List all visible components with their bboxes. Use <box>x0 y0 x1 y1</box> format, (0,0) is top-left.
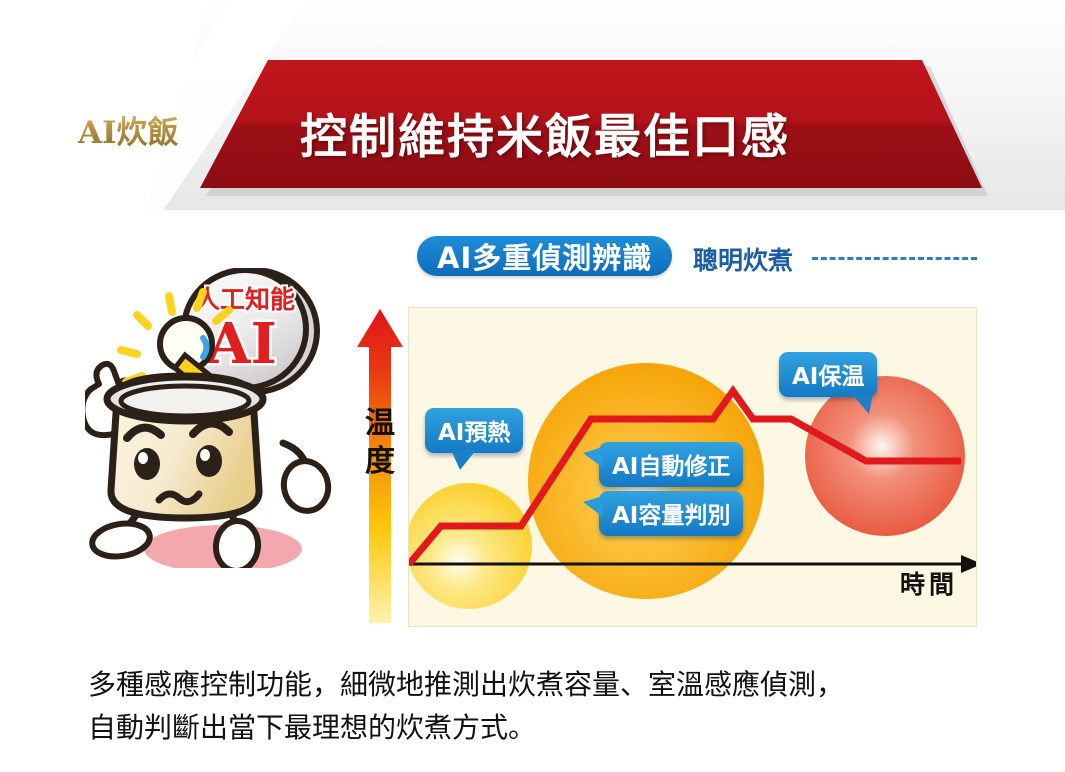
caption-block: 多種感應控制功能，細微地推測出炊煮容量、室溫感應偵測， 自動判斷出當下最理想的炊… <box>88 663 1018 750</box>
mascot-foot-left <box>90 520 152 561</box>
callout-tail <box>583 447 603 468</box>
callout-tail <box>583 496 603 517</box>
callout-capacity-detect-label: AI容量判別 <box>612 503 730 529</box>
time-axis-arrowhead <box>961 555 976 573</box>
smart-cooking-label: 聰明炊煮 <box>693 241 793 277</box>
callout-capacity-detect: AI容量判別 <box>599 491 743 536</box>
callout-keep-warm-label: AI保温 <box>792 364 864 390</box>
callout-keep-warm: AI保温 <box>779 352 877 397</box>
rice-cooker-mascot: 人工知能 AI <box>85 268 345 568</box>
callout-tail <box>451 450 476 470</box>
mascot-body <box>107 376 263 518</box>
mascot-right-arm <box>279 443 332 515</box>
header-banner: AI炊飯 控制維持米飯最佳口感 <box>0 0 1065 230</box>
mascot-foot-right <box>214 519 261 568</box>
caption-line-1: 多種感應控制功能，細微地推測出炊煮容量、室溫感應偵測， <box>88 663 1018 706</box>
callout-tail <box>852 394 873 414</box>
mascot-eye-right <box>196 445 222 477</box>
axis-label-time: 時間 <box>900 565 958 601</box>
mascot-illustration: 人工知能 AI <box>85 268 345 568</box>
badge-dashed-rule <box>812 257 977 260</box>
infographic-root: AI炊飯 控制維持米飯最佳口感 AI多重偵測辨識 聰明炊煮 <box>0 0 1065 772</box>
callout-auto-correct-label: AI自動修正 <box>612 454 730 480</box>
callout-auto-correct: AI自動修正 <box>599 442 743 487</box>
keepwarm-glow-circle <box>805 376 965 536</box>
mascot-eye-left <box>134 448 160 480</box>
axis-label-temperature: 温度 <box>358 405 402 480</box>
callout-preheat: AI預熱 <box>425 408 523 453</box>
caption-line-2: 自動判斷出當下最理想的炊煮方式。 <box>88 706 1018 749</box>
ai-detection-badge: AI多重偵測辨識 <box>417 236 672 276</box>
callout-preheat-label: AI預熱 <box>438 420 510 446</box>
mascot-hand-right <box>279 457 332 515</box>
mascot-popup-top-label: 人工知能 <box>195 285 295 314</box>
eyebrow-title: AI炊飯 <box>78 107 179 152</box>
page-title: 控制維持米飯最佳口感 <box>300 98 790 167</box>
